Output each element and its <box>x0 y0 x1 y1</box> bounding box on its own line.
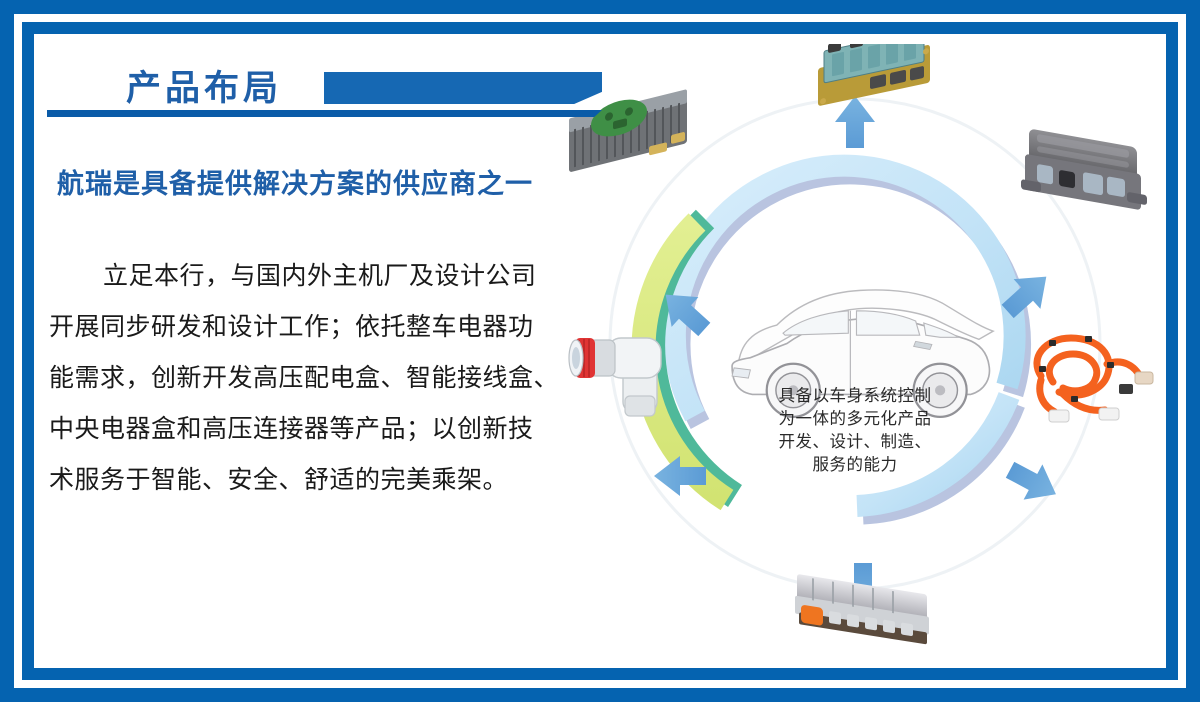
body-line: 开展同步研发和设计工作；依托整车电器功 <box>49 301 597 352</box>
car-window-rear <box>856 311 919 335</box>
diagram-center-caption: 具备以车身系统控制 为一体的多元化产品 开发、设计、制造、 服务的能力 <box>720 384 990 476</box>
body-line: 能需求，创新开发高压配电盒、智能接线盒、 <box>49 352 597 403</box>
caption-line: 具备以车身系统控制 <box>720 384 990 407</box>
title-banner-bar <box>324 72 602 104</box>
diagram-canvas <box>545 44 1185 656</box>
page-title: 产品布局 <box>126 60 282 111</box>
pcb-fuse-box-product <box>818 44 930 106</box>
metal-enclosure-box-product <box>1021 127 1147 211</box>
body-line: 术服务于智能、安全、舒适的完美乘架。 <box>49 454 597 505</box>
caption-line: 开发、设计、制造、 <box>720 430 990 453</box>
section-title-block: 产品布局 <box>44 60 604 124</box>
slide-page: 产品布局 航瑞是具备提供解决方案的供应商之一 立足本行，与国内外主机厂及设计公司… <box>0 0 1200 702</box>
body-line: 中央电器盒和高压连接器等产品；以创新技 <box>49 403 597 454</box>
hv-connector-product <box>569 338 661 416</box>
left-content-column: 产品布局 航瑞是具备提供解决方案的供应商之一 立足本行，与国内外主机厂及设计公司… <box>44 44 604 654</box>
title-underline-rule <box>47 110 602 117</box>
caption-line: 为一体的多元化产品 <box>720 407 990 430</box>
product-cycle-diagram: 具备以车身系统控制 为一体的多元化产品 开发、设计、制造、 服务的能力 <box>545 44 1185 656</box>
subtitle-heading: 航瑞是具备提供解决方案的供应商之一 <box>57 162 602 201</box>
body-line: 立足本行，与国内外主机厂及设计公司 <box>49 250 597 301</box>
caption-line: 服务的能力 <box>720 453 990 476</box>
arrow-top-icon <box>835 96 875 148</box>
pdu-orange-connector <box>801 605 823 626</box>
body-paragraph: 立足本行，与国内外主机厂及设计公司 开展同步研发和设计工作；依托整车电器功 能需… <box>49 250 597 505</box>
enclosure-connector <box>1059 170 1075 189</box>
orange-hv-cable-harness-product <box>1037 336 1153 422</box>
car-headlight <box>732 368 750 378</box>
